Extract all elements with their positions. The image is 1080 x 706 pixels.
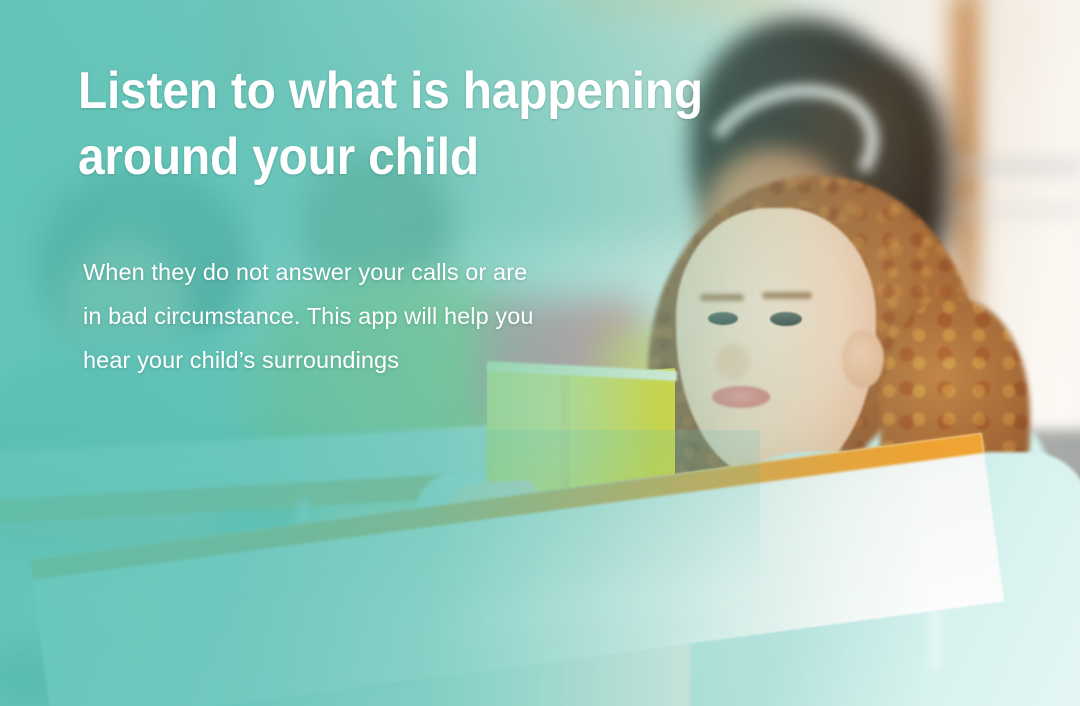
promo-banner: Listen to what is happening around your … [0, 0, 1080, 706]
subheadline: When they do not answer your calls or ar… [83, 250, 683, 382]
girl-ear [842, 330, 884, 388]
banner-copy: Listen to what is happening around your … [0, 0, 780, 420]
headline: Listen to what is happening around your … [78, 58, 704, 190]
